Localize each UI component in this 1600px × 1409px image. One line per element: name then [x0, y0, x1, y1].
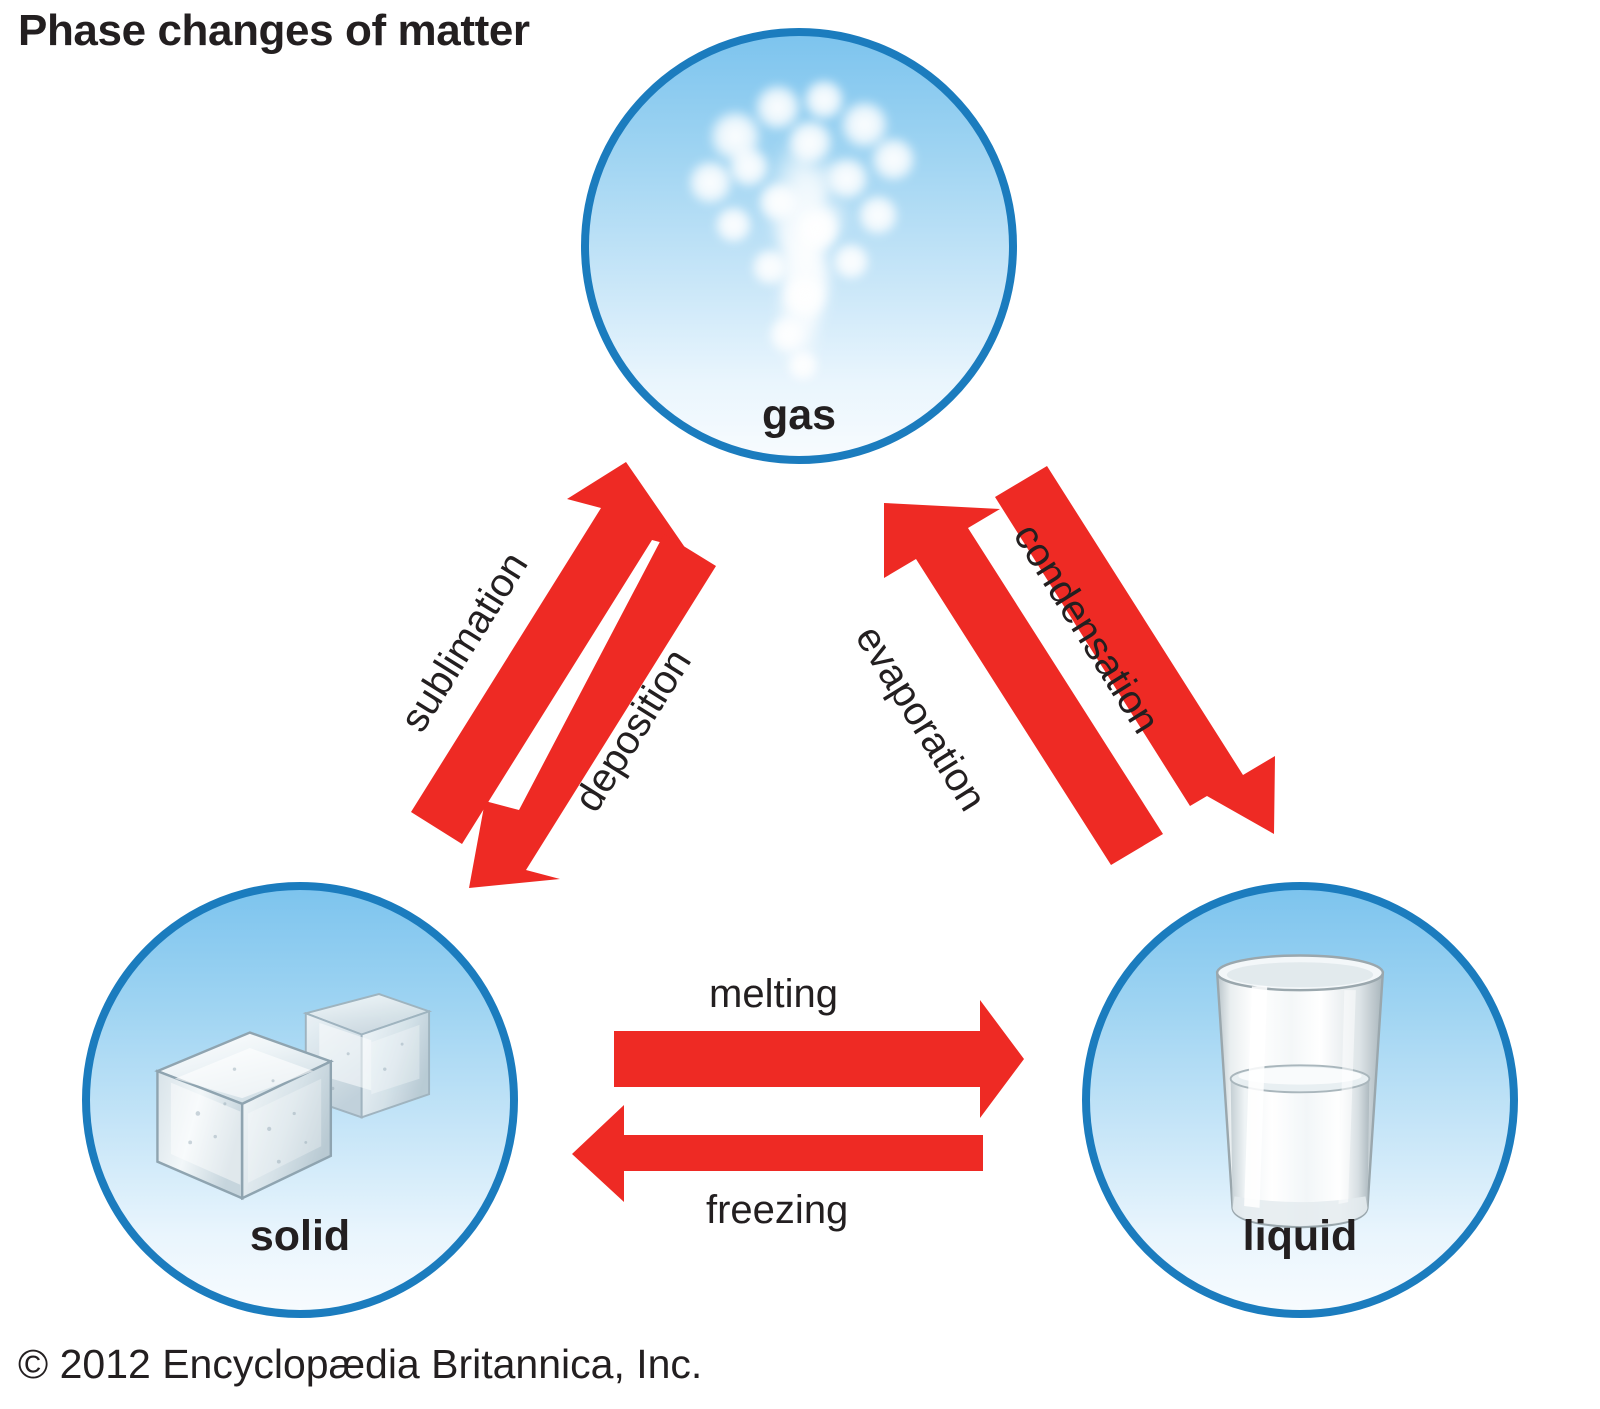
phase-node-solid[interactable]: solid [82, 882, 518, 1318]
arrow-melting [614, 1000, 1024, 1118]
phase-label-liquid: liquid [1090, 1212, 1510, 1261]
page-title: Phase changes of matter [18, 6, 530, 56]
phase-label-solid: solid [90, 1212, 510, 1261]
edge-label-melting: melting [709, 972, 838, 1017]
phase-node-liquid[interactable]: liquid [1082, 882, 1518, 1318]
edge-label-deposition: deposition [566, 641, 701, 820]
edge-label-freezing: freezing [706, 1188, 848, 1233]
edge-label-condensation: condensation [1004, 516, 1168, 742]
diagram-canvas: Phase changes of matter [0, 0, 1600, 1409]
edge-label-sublimation: sublimation [392, 544, 537, 739]
copyright-notice: © 2012 Encyclopædia Britannica, Inc. [18, 1341, 702, 1388]
phase-node-gas[interactable]: gas [581, 28, 1017, 464]
phase-label-gas: gas [589, 391, 1009, 440]
edge-label-evaporation: evaporation [846, 618, 995, 819]
